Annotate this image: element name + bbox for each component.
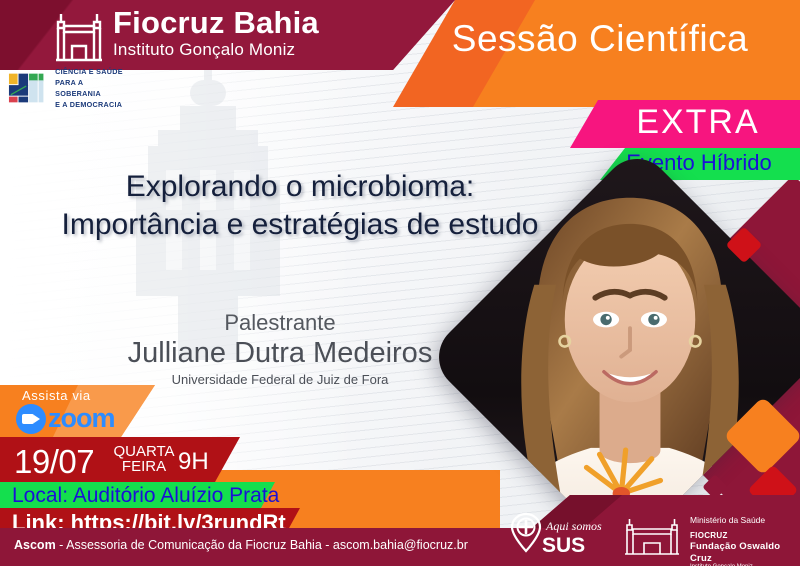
watch-via-label: Assista via xyxy=(22,388,91,403)
svg-text:Aqui somos: Aqui somos xyxy=(545,519,602,533)
event-poster: Fiocruz Bahia Instituto Gonçalo Moniz Se… xyxy=(0,0,800,566)
fiocruz-building-icon xyxy=(50,6,108,64)
ministry-text: Ministério da Saúde FIOCRUZ Fundação Osw… xyxy=(690,515,800,566)
cs-line2: PARA A SOBERANIA xyxy=(55,77,128,99)
sus-logo: Aqui somos SUS xyxy=(510,512,602,558)
ascom-credit: Ascom - Assessoria de Comunicação da Fio… xyxy=(14,538,468,552)
speaker-affiliation: Universidade Federal de Juiz de Fora xyxy=(40,372,520,387)
event-time: 9H xyxy=(178,448,209,476)
zoom-camera-icon xyxy=(16,404,46,434)
weekday-line2: FEIRA xyxy=(112,459,176,474)
svg-text:SUS: SUS xyxy=(542,534,585,557)
org-full-name: Fundação Oswaldo Cruz xyxy=(690,541,800,565)
event-weekday: QUARTA FEIRA xyxy=(112,444,176,474)
ascom-bold: Ascom xyxy=(14,538,56,552)
ministry-label: Ministério da Saúde xyxy=(690,515,800,526)
institution-line1: Fiocruz Bahia xyxy=(113,7,319,38)
fiocruz-building-icon xyxy=(622,512,682,556)
ciencia-saude-logo: CIÊNCIA E SAÚDE PARA A SOBERANIA E A DEM… xyxy=(8,68,128,108)
event-location: Local: Auditório Aluízio Prata xyxy=(12,484,279,508)
zoom-label: zoom xyxy=(48,403,115,434)
institution-line2: Instituto Gonçalo Moniz xyxy=(113,41,319,58)
title-line-2: Importância e estratégias de estudo xyxy=(10,206,590,244)
page-title: Explorando o microbioma: Importância e e… xyxy=(10,168,590,244)
cs-line1: CIÊNCIA E SAÚDE xyxy=(55,66,128,77)
ascom-rest: - Assessoria de Comunicação da Fiocruz B… xyxy=(56,538,468,552)
extra-badge-label: EXTRA xyxy=(600,103,796,142)
ministry-building-logo xyxy=(622,512,682,556)
speaker-label: Palestrante xyxy=(40,310,520,336)
institution-name: Fiocruz Bahia Instituto Gonçalo Moniz xyxy=(113,7,319,58)
ciencia-saude-mark-icon xyxy=(8,71,50,105)
session-title: Sessão Científica xyxy=(420,18,780,60)
cs-line3: E A DEMOCRACIA xyxy=(55,99,128,110)
title-line-1: Explorando o microbioma: xyxy=(10,168,590,206)
event-date: 19/07 xyxy=(14,443,94,481)
org-name: FIOCRUZ xyxy=(690,531,800,541)
speaker-name: Julliane Dutra Medeiros xyxy=(20,337,540,370)
zoom-logo[interactable]: zoom xyxy=(16,403,115,434)
sus-location-cross-icon: Aqui somos SUS xyxy=(510,512,602,558)
ciencia-saude-text: CIÊNCIA E SAÚDE PARA A SOBERANIA E A DEM… xyxy=(55,66,128,111)
weekday-line1: QUARTA xyxy=(112,444,176,459)
